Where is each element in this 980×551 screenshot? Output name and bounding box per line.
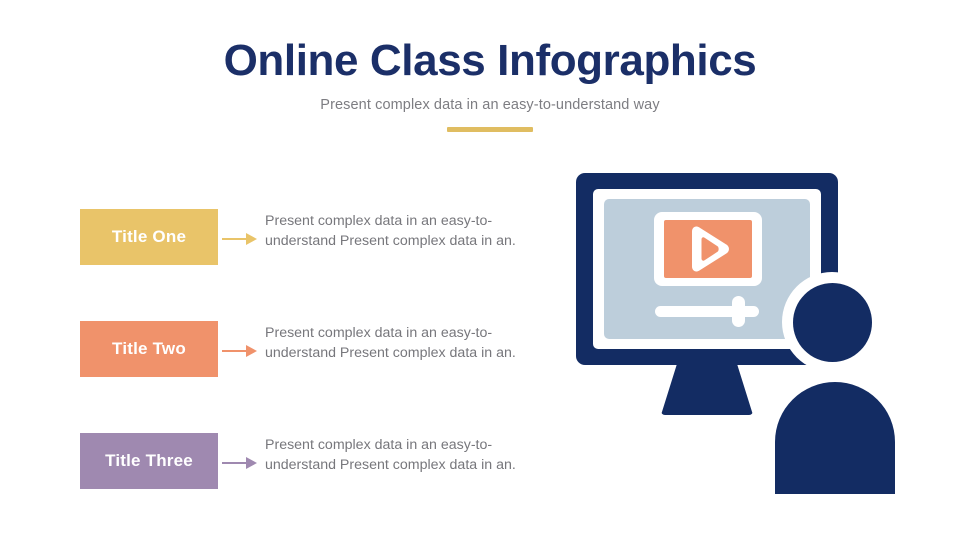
title-chip-label: Title Three xyxy=(105,451,193,471)
row-description: Present complex data in an easy-to-under… xyxy=(265,323,555,363)
row-description: Present complex data in an easy-to-under… xyxy=(265,435,555,475)
play-icon xyxy=(684,224,732,274)
arrow-icon xyxy=(222,345,258,357)
page-title: Online Class Infographics xyxy=(0,36,980,85)
seek-bar-handle[interactable] xyxy=(732,296,745,327)
monitor-stand xyxy=(661,365,753,415)
content-rows: Title One Present complex data in an eas… xyxy=(0,195,560,531)
page-subtitle: Present complex data in an easy-to-under… xyxy=(0,97,980,113)
title-chip-label: Title One xyxy=(112,227,186,247)
arrow-icon xyxy=(222,233,258,245)
arrow-shaft xyxy=(222,238,248,240)
title-chip-label: Title Two xyxy=(112,339,186,359)
arrow-head xyxy=(246,345,257,357)
row-description: Present complex data in an easy-to-under… xyxy=(265,211,555,251)
header: Online Class Infographics Present comple… xyxy=(0,36,980,132)
arrow-head xyxy=(246,457,257,469)
arrow-shaft xyxy=(222,462,248,464)
content-row: Title Two Present complex data in an eas… xyxy=(0,307,560,419)
person-body-icon xyxy=(775,382,895,494)
title-chip-one[interactable]: Title One xyxy=(80,209,218,265)
arrow-shaft xyxy=(222,350,248,352)
person-head-icon xyxy=(793,283,872,362)
arrow-icon xyxy=(222,457,258,469)
content-row: Title One Present complex data in an eas… xyxy=(0,195,560,307)
title-chip-three[interactable]: Title Three xyxy=(80,433,218,489)
online-class-illustration xyxy=(560,160,960,510)
slide-canvas: Online Class Infographics Present comple… xyxy=(0,0,980,551)
title-chip-two[interactable]: Title Two xyxy=(80,321,218,377)
accent-divider xyxy=(447,127,533,132)
content-row: Title Three Present complex data in an e… xyxy=(0,419,560,531)
arrow-head xyxy=(246,233,257,245)
